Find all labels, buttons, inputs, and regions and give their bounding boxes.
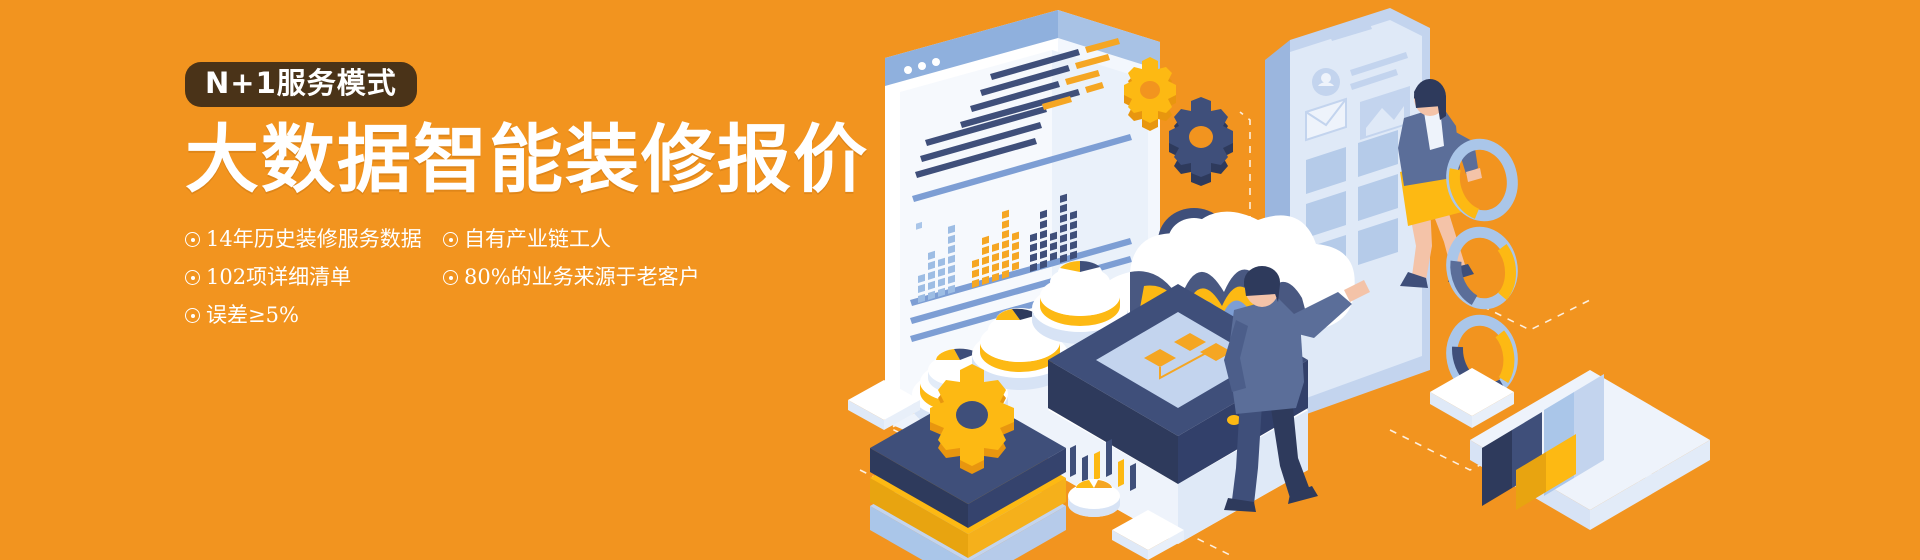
list-item-label: 14年历史装修服务数据 xyxy=(206,229,422,250)
list-item: 误差≥5% xyxy=(185,305,443,326)
isometric-illustration xyxy=(830,0,1920,560)
service-model-badge: N+1服务模式 xyxy=(185,62,417,107)
list-item-label: 自有产业链工人 xyxy=(464,229,611,250)
banner-text-block: N+1服务模式 大数据智能装修报价 14年历史装修服务数据 102项详细清单 误… xyxy=(185,62,905,335)
list-item-label: 误差≥5% xyxy=(206,305,299,326)
circled-dot-icon xyxy=(443,232,458,247)
donut-rings xyxy=(1445,139,1519,398)
page-title: 大数据智能装修报价 xyxy=(185,122,905,199)
circled-dot-icon xyxy=(185,308,200,323)
feature-bullet-list: 14年历史装修服务数据 102项详细清单 误差≥5% 自有产业链工人 80%的业… xyxy=(185,221,905,335)
gear-navy xyxy=(1169,97,1233,186)
list-item-label: 102项详细清单 xyxy=(206,267,351,288)
circled-dot-icon xyxy=(185,232,200,247)
list-item: 14年历史装修服务数据 xyxy=(185,229,443,250)
promo-banner: N+1服务模式 大数据智能装修报价 14年历史装修服务数据 102项详细清单 误… xyxy=(0,0,1920,560)
list-item-label: 80%的业务来源于老客户 xyxy=(464,267,700,288)
circled-dot-icon xyxy=(443,270,458,285)
circled-dot-icon xyxy=(185,270,200,285)
list-item: 102项详细清单 xyxy=(185,267,443,288)
